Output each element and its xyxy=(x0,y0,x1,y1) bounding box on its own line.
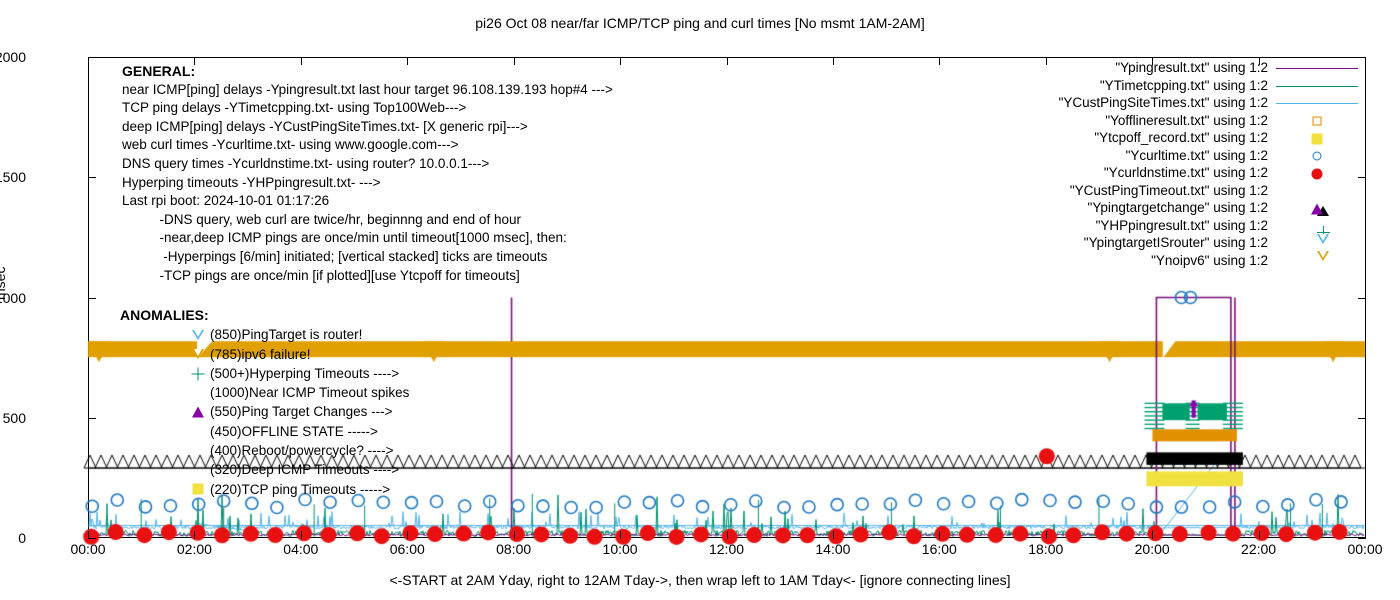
y-tick-mark xyxy=(1358,418,1366,419)
anomalies-heading: ANOMALIES: xyxy=(120,306,209,325)
x-tick-mark xyxy=(88,531,89,539)
x-tick-label: 00:00 xyxy=(70,541,105,557)
anomaly-item: (785)ipv6 failure! xyxy=(120,345,209,364)
legend-label: "Ycurldnstime.txt" using 1:2 xyxy=(1104,165,1268,180)
anomaly-item: (850)PingTarget is router! xyxy=(120,325,209,344)
general-notes: GENERAL: near ICMP[ping] delays -Ypingre… xyxy=(122,62,613,285)
legend-label: "YCustPingSiteTimes.txt" using 1:2 xyxy=(1059,95,1268,110)
legend-item: "Ypingtargetchange" using 1:2 xyxy=(940,200,1360,218)
anomaly-item: (320)Deep ICMP Timeouts ----> xyxy=(120,460,209,479)
x-tick-mark xyxy=(1046,531,1047,539)
anomaly-item: (400)Reboot/powercycle? ----> xyxy=(120,441,209,460)
x-tick-label: 16:00 xyxy=(922,541,957,557)
legend-label: "Yofflineresult.txt" using 1:2 xyxy=(1105,113,1268,128)
x-tick-mark xyxy=(1152,531,1153,539)
legend-symbol-circ xyxy=(1313,152,1322,161)
legend-symbol-tri-up-fill xyxy=(192,407,204,418)
legend-label: "YTimetcpping.txt" using 1:2 xyxy=(1100,78,1268,93)
anomaly-item: (450)OFFLINE STATE -----> xyxy=(120,422,209,441)
x-tick-mark xyxy=(194,531,195,539)
anomaly-text: (400)Reboot/powercycle? ----> xyxy=(210,441,393,460)
general-lines: near ICMP[ping] delays -Ypingresult.txt … xyxy=(122,81,613,286)
legend-line-swatch xyxy=(1276,86,1358,87)
x-tick-mark xyxy=(833,57,834,65)
anomalies-notes: ANOMALIES: (850)PingTarget is router!(78… xyxy=(120,306,209,499)
legend-key xyxy=(1274,165,1360,183)
y-tick-label: 1000 xyxy=(0,290,26,306)
general-line: -near,deep ICMP pings are once/min until… xyxy=(122,229,613,248)
legend-key xyxy=(1274,253,1360,271)
x-tick-label: 20:00 xyxy=(1135,541,1170,557)
y-tick-label: 0 xyxy=(0,530,26,546)
legend-item: "Ypingresult.txt" using 1:2 xyxy=(940,60,1360,78)
anomaly-item: (220)TCP ping Timeouts -----> xyxy=(120,480,209,499)
legend-item: "Ynoipv6" using 1:2 xyxy=(940,253,1360,271)
legend-item: "YCustPingSiteTimes.txt" using 1:2 xyxy=(940,95,1360,113)
legend-key xyxy=(1274,200,1360,218)
legend-label: "Ypingtargetchange" using 1:2 xyxy=(1088,200,1268,215)
y-tick-mark xyxy=(88,298,96,299)
general-line: near ICMP[ping] delays -Ypingresult.txt … xyxy=(122,81,613,100)
legend-symbol-plus xyxy=(192,367,205,380)
x-tick-label: 18:00 xyxy=(1028,541,1063,557)
legend-symbol-tri-dn-blue xyxy=(192,330,204,340)
anomaly-text: (500+)Hyperping Timeouts ----> xyxy=(210,364,399,383)
x-tick-mark xyxy=(620,57,621,65)
legend-key xyxy=(1274,60,1360,78)
anomaly-text: (850)PingTarget is router! xyxy=(210,325,362,344)
y-tick-mark xyxy=(1358,298,1366,299)
anomaly-item: (1000)Near ICMP Timeout spikes xyxy=(120,383,209,402)
general-line: TCP ping delays -YTimetcpping.txt- using… xyxy=(122,99,613,118)
x-tick-mark xyxy=(301,531,302,539)
legend-key xyxy=(1274,235,1360,253)
legend-symbol-dot xyxy=(1312,168,1323,179)
x-tick-label: 00:00 xyxy=(1347,541,1382,557)
x-tick-mark xyxy=(939,531,940,539)
legend-symbol-tri-dn-org xyxy=(192,349,204,359)
legend-label: "YpingtargetISrouter" using 1:2 xyxy=(1084,235,1268,250)
x-tick-mark xyxy=(1365,531,1366,539)
y-tick-mark xyxy=(88,418,96,419)
chart-root: pi26 Oct 08 near/far ICMP/TCP ping and c… xyxy=(0,0,1400,600)
general-line: web curl times -Ycurltime.txt- using www… xyxy=(122,136,613,155)
legend-key xyxy=(1274,148,1360,166)
y-tick-label: 2000 xyxy=(0,49,26,65)
legend-key xyxy=(1274,78,1360,96)
x-tick-label: 22:00 xyxy=(1241,541,1276,557)
general-line: -Hyperpings [6/min] initiated; [vertical… xyxy=(122,248,613,267)
x-tick-mark xyxy=(514,531,515,539)
anomaly-item: (550)Ping Target Changes ---> xyxy=(120,402,209,421)
x-tick-label: 10:00 xyxy=(603,541,638,557)
legend-key xyxy=(1274,113,1360,131)
legend-symbol-sq-fill xyxy=(1312,133,1323,144)
legend-label: "YHPpingresult.txt" using 1:2 xyxy=(1096,218,1268,233)
anomaly-text: (785)ipv6 failure! xyxy=(210,345,311,364)
legend-label: "Ytcpoff_record.txt" using 1:2 xyxy=(1094,130,1268,145)
legend-item: "Ytcpoff_record.txt" using 1:2 xyxy=(940,130,1360,148)
legend-item: "Yofflineresult.txt" using 1:2 xyxy=(940,113,1360,131)
general-line: Hyperping timeouts -YHPpingresult.txt- -… xyxy=(122,174,613,193)
legend-label: "Ypingresult.txt" using 1:2 xyxy=(1115,60,1268,75)
legend-item: "Ycurldnstime.txt" using 1:2 xyxy=(940,165,1360,183)
anomaly-text: (450)OFFLINE STATE -----> xyxy=(210,422,378,441)
x-tick-mark xyxy=(1259,531,1260,539)
x-tick-mark xyxy=(88,57,89,65)
general-line: -DNS query, web curl are twice/hr, begin… xyxy=(122,211,613,230)
legend-symbol-tri-up-fill xyxy=(1311,203,1323,214)
legend-key xyxy=(1274,95,1360,113)
legend-key xyxy=(1274,218,1360,236)
general-line: deep ICMP[ping] delays -YCustPingSiteTim… xyxy=(122,118,613,137)
x-tick-label: 06:00 xyxy=(390,541,425,557)
x-tick-mark xyxy=(727,531,728,539)
x-tick-mark xyxy=(620,531,621,539)
general-line: -TCP pings are once/min [if plotted][use… xyxy=(122,267,613,286)
legend-label: "YCustPingTimeout.txt" using 1:2 xyxy=(1070,183,1268,198)
anomaly-item: (500+)Hyperping Timeouts ----> xyxy=(120,364,209,383)
x-tick-mark xyxy=(1365,57,1366,65)
legend-item: "YTimetcpping.txt" using 1:2 xyxy=(940,78,1360,96)
x-tick-label: 12:00 xyxy=(709,541,744,557)
general-line: DNS query times -Ycurldnstime.txt- using… xyxy=(122,155,613,174)
legend-symbol-sq-open xyxy=(1313,117,1322,126)
anomalies-lines: (850)PingTarget is router!(785)ipv6 fail… xyxy=(120,325,209,499)
x-tick-mark xyxy=(727,57,728,65)
x-tick-label: 08:00 xyxy=(496,541,531,557)
legend-item: "YCustPingTimeout.txt" using 1:2 xyxy=(940,183,1360,201)
legend-key xyxy=(1274,130,1360,148)
x-tick-mark xyxy=(833,531,834,539)
legend-line-swatch xyxy=(1276,68,1358,69)
general-line: Last rpi boot: 2024-10-01 01:17:26 xyxy=(122,192,613,211)
y-tick-label: 500 xyxy=(0,410,26,426)
y-tick-mark xyxy=(88,177,96,178)
anomaly-text: (1000)Near ICMP Timeout spikes xyxy=(210,383,409,402)
x-tick-label: 02:00 xyxy=(177,541,212,557)
x-tick-label: 04:00 xyxy=(283,541,318,557)
legend-key xyxy=(1274,183,1360,201)
x-tick-label: 14:00 xyxy=(815,541,850,557)
legend-symbol-sq-fill xyxy=(193,484,204,495)
legend-item: "Ycurltime.txt" using 1:2 xyxy=(940,148,1360,166)
legend-item: "YpingtargetISrouter" using 1:2 xyxy=(940,235,1360,253)
legend-item: "YHPpingresult.txt" using 1:2 xyxy=(940,218,1360,236)
x-tick-mark xyxy=(407,531,408,539)
anomaly-text: (320)Deep ICMP Timeouts ----> xyxy=(210,460,399,479)
y-tick-mark xyxy=(88,57,96,58)
legend-symbol-tri-dn-org xyxy=(1317,251,1329,276)
x-axis-label: <-START at 2AM Yday, right to 12AM Tday-… xyxy=(0,572,1400,588)
general-heading: GENERAL: xyxy=(122,62,613,81)
y-tick-label: 1500 xyxy=(0,169,26,185)
legend-label: "Ynoipv6" using 1:2 xyxy=(1151,253,1268,268)
anomaly-text: (550)Ping Target Changes ---> xyxy=(210,402,392,421)
y-tick-mark xyxy=(88,538,96,539)
legend: "Ypingresult.txt" using 1:2"YTimetcpping… xyxy=(940,60,1360,270)
legend-line-swatch xyxy=(1276,103,1358,104)
legend-label: "Ycurltime.txt" using 1:2 xyxy=(1126,148,1268,163)
anomaly-text: (220)TCP ping Timeouts -----> xyxy=(210,480,390,499)
